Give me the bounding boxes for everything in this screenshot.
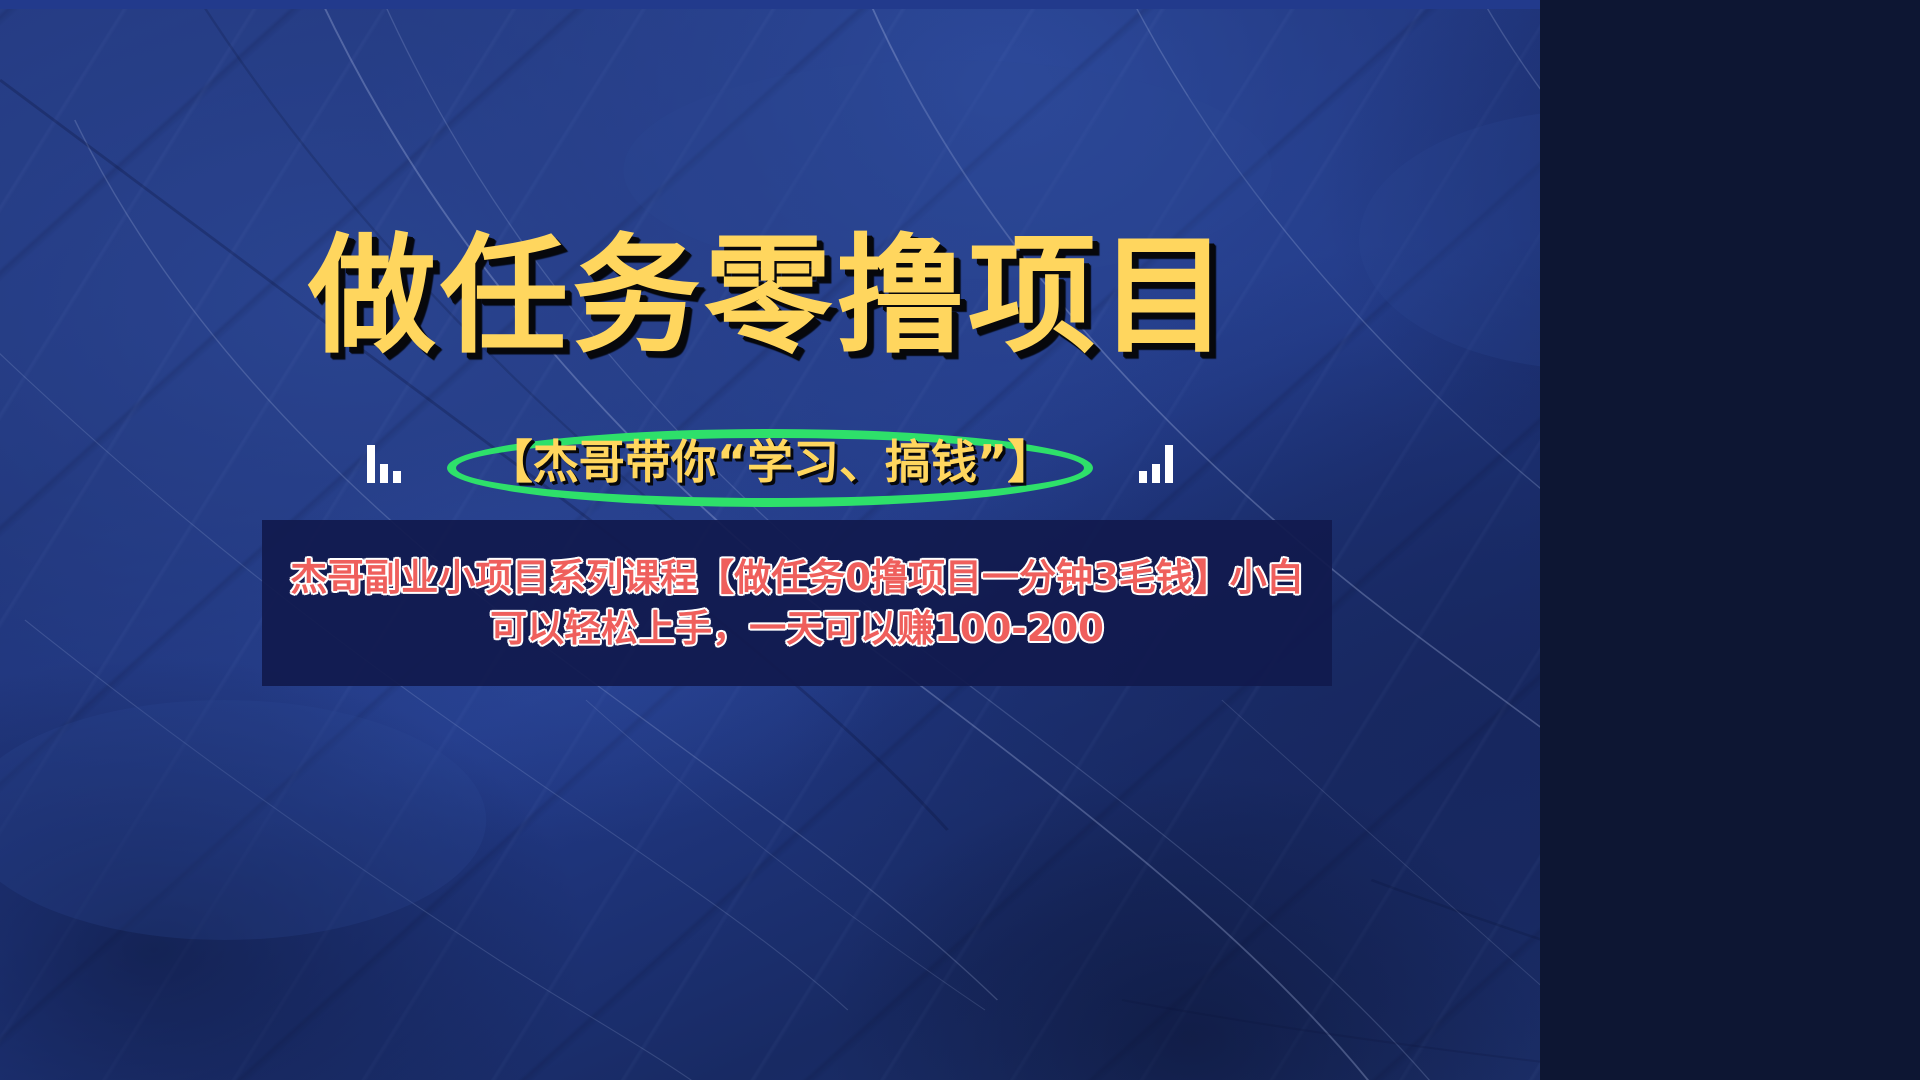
description-panel: 杰哥副业小项目系列课程【做任务0撸项目一分钟3毛钱】小白可以轻松上手，一天可以赚…: [262, 520, 1332, 686]
canvas-right-gutter: [1540, 0, 1920, 1080]
poster-canvas: 做任务零撸项目 【杰哥带你“学习、搞钱”】 杰哥副业小项目系列课程【做任务0撸项…: [0, 0, 1920, 1080]
subtitle-text: 【杰哥带你“学习、搞钱”】: [487, 438, 1053, 486]
bar-3: [1165, 445, 1173, 483]
bar-2: [1152, 464, 1160, 483]
subtitle-row: 【杰哥带你“学习、搞钱”】: [0, 424, 1540, 502]
page-title: 做任务零撸项目: [0, 232, 1540, 360]
bar-3: [393, 471, 401, 483]
subtitle-highlight-group: 【杰哥带你“学习、搞钱”】: [447, 432, 1093, 494]
description-text: 杰哥副业小项目系列课程【做任务0撸项目一分钟3毛钱】小白可以轻松上手，一天可以赚…: [280, 552, 1314, 654]
bar-1: [1139, 471, 1147, 483]
bar-chart-icon-right: [1139, 443, 1173, 483]
bar-2: [380, 464, 388, 483]
bar-1: [367, 445, 375, 483]
bar-chart-icon-left: [367, 443, 401, 483]
